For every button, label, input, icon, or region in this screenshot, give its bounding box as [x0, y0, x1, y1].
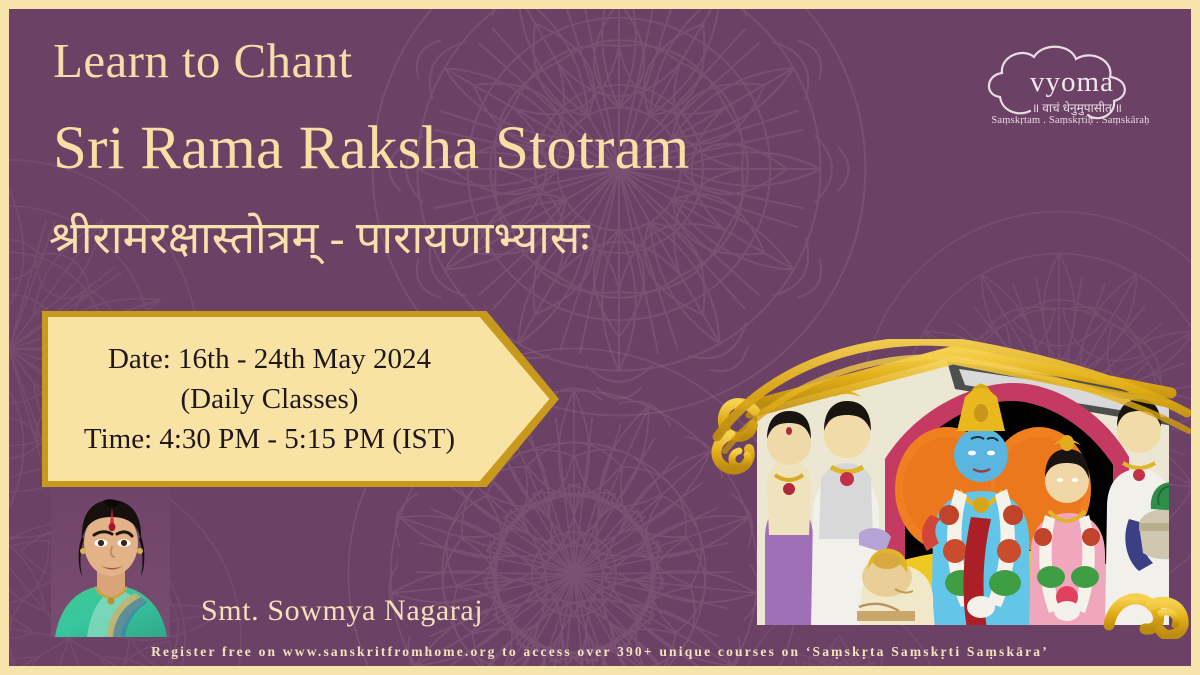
speaker-name: Smt. Sowmya Nagaraj [201, 594, 483, 628]
banner-text-group: Date: 16th - 24th May 2024 (Daily Classe… [42, 311, 497, 487]
banner-time-line: Time: 4:30 PM - 5:15 PM (IST) [84, 421, 455, 457]
logo-sanskrit-motto: ॥ वाचं धेनुमुपासीत ॥ [1002, 99, 1152, 116]
logo-tagline: Saṃskṛtam . Saṃskṛtiḥ . Saṃskāraḥ [978, 115, 1163, 126]
banner-frequency-line: (Daily Classes) [180, 381, 358, 417]
logo-wordmark: vyoma [996, 66, 1148, 99]
page-title: Sri Rama Raksha Stotram [53, 117, 690, 181]
schedule-banner: Date: 16th - 24th May 2024 (Daily Classe… [42, 311, 559, 487]
kicker-heading: Learn to Chant [53, 35, 353, 86]
poster: Learn to Chant Sri Rama Raksha Stotram श… [0, 0, 1200, 675]
sanskrit-subtitle: श्रीरामरक्षास्तोत्रम् - पारायणाभ्यासः [49, 213, 589, 265]
deity-artwork [709, 339, 1191, 639]
speaker-photo [51, 487, 170, 637]
avatar [51, 487, 170, 637]
vyoma-logo[interactable]: vyoma ॥ वाचं धेनुमुपासीत ॥ Saṃskṛtam . S… [978, 35, 1163, 140]
footer-register-text[interactable]: Register free on www.sanskritfromhome.or… [9, 644, 1191, 660]
poster-stage: Learn to Chant Sri Rama Raksha Stotram श… [9, 9, 1191, 666]
banner-date-line: Date: 16th - 24th May 2024 [108, 341, 431, 377]
